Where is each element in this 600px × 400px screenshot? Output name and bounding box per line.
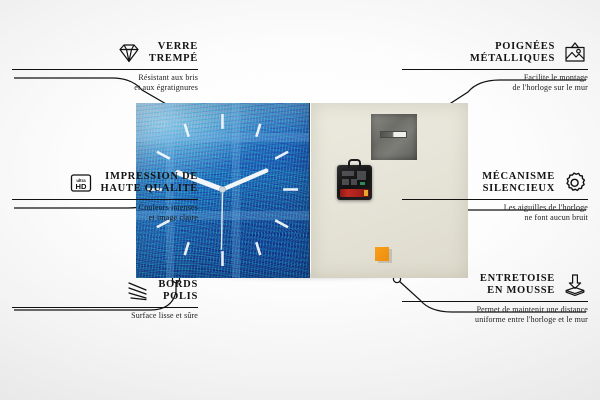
feature-impression-haute-qualite: ultra HD IMPRESSION DEHAUTE QUALITÉ Coul… [12,170,198,222]
svg-text:HD: HD [75,182,86,191]
feature-title: MÉCANISMESILENCIEUX [482,171,555,196]
feature-entretoise-en-mousse: ENTRETOISEEN MOUSSE Permet de maintenir … [402,272,588,324]
feature-title: ENTRETOISEEN MOUSSE [480,273,555,298]
mechanism-detail [351,179,357,185]
feature-subtitle: Surface lisse et sûre [12,311,198,321]
feature-title: VERRETREMPÉ [149,41,198,66]
feature-subtitle: Couleurs intenseset image claire [12,203,198,222]
battery [340,189,369,197]
feature-title: POIGNÉESMÉTALLIQUES [470,41,555,66]
mechanism-detail [357,171,366,180]
mechanism-loop [348,159,361,168]
feature-subtitle: Résistant aux briset aux égratignures [12,73,198,92]
feature-header: MÉCANISMESILENCIEUX [402,170,588,196]
feature-bords-polis: BORDSPOLIS Surface lisse et sûre [12,278,198,321]
feature-divider [402,301,588,302]
feature-header: BORDSPOLIS [12,278,198,304]
diamond-icon [116,40,142,66]
feature-header: ultra HD IMPRESSION DEHAUTE QUALITÉ [12,170,198,196]
polished-edges-icon [125,278,151,304]
metal-hanger-plate [371,114,417,160]
mechanism-detail [342,179,349,185]
ultra-hd-icon: ultra HD [68,170,94,196]
gear-icon [562,170,588,196]
feature-divider [12,199,198,200]
mechanism-indicator [360,182,365,185]
battery-terminal [364,190,368,196]
feature-subtitle: Les aiguilles de l'horlogene font aucun … [402,203,588,222]
feature-divider [402,199,588,200]
feature-title: BORDSPOLIS [158,279,198,304]
feature-divider [12,69,198,70]
quartz-mechanism [337,165,372,200]
mechanism-detail [342,171,354,176]
feature-header: ENTRETOISEEN MOUSSE [402,272,588,298]
feature-header: VERRETREMPÉ [12,40,198,66]
feature-title: IMPRESSION DEHAUTE QUALITÉ [101,171,199,196]
infographic-canvas: VERRETREMPÉ Résistant aux briset aux égr… [0,0,600,400]
feature-divider [402,69,588,70]
foam-spacer-icon [562,272,588,298]
feature-divider [12,307,198,308]
feature-header: POIGNÉESMÉTALLIQUES [402,40,588,66]
feature-subtitle: Facilite le montagede l'horloge sur le m… [402,73,588,92]
hanging-frame-icon [562,40,588,66]
hanger-keyhole-slot [380,131,407,138]
feature-poignees-metalliques: POIGNÉESMÉTALLIQUES Facilite le montaged… [402,40,588,92]
feature-subtitle: Permet de maintenir une distanceuniforme… [402,305,588,324]
foam-spacer [375,247,389,261]
feature-verre-trempe: VERRETREMPÉ Résistant aux briset aux égr… [12,40,198,92]
feature-mecanisme-silencieux: MÉCANISMESILENCIEUX Les aiguilles de l'h… [402,170,588,222]
